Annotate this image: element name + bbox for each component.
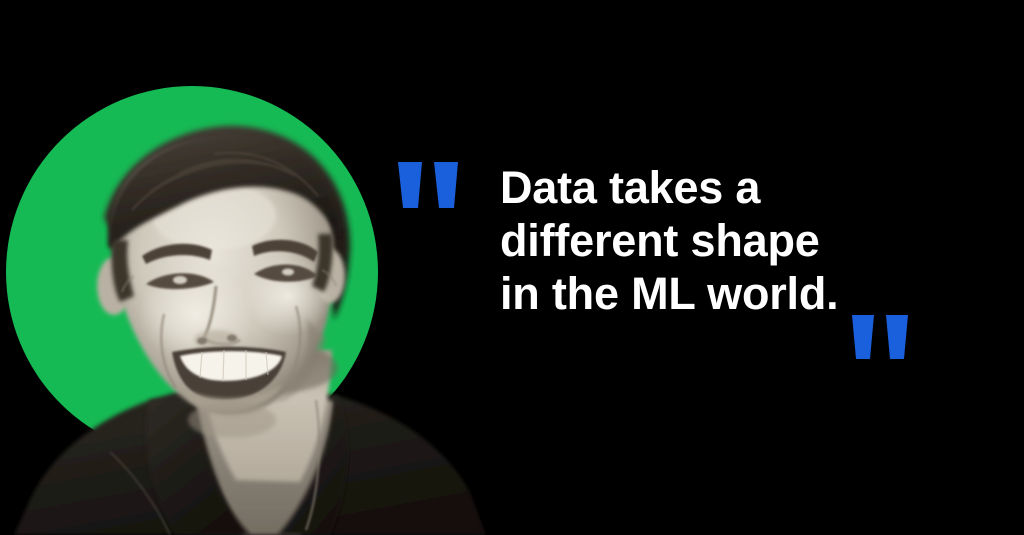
quote-close-icon (850, 313, 912, 361)
quote-card: Data takes a different shape in the ML w… (0, 0, 1024, 535)
portrait-block (0, 0, 500, 535)
quote-text: Data takes a different shape in the ML w… (500, 161, 970, 320)
quote-open-icon (396, 160, 462, 210)
